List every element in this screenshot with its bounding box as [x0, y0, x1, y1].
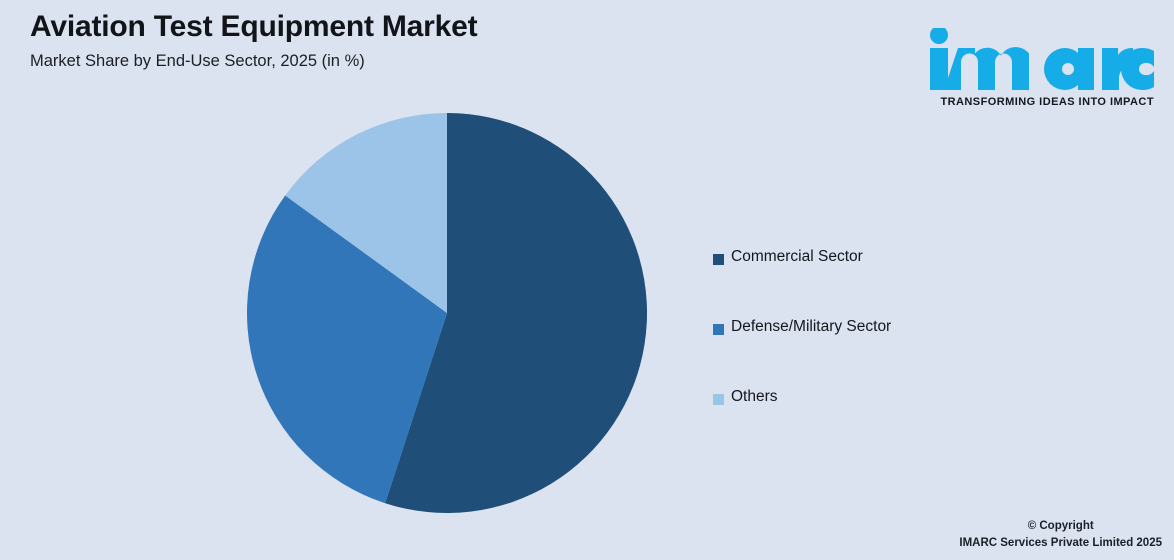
imarc-logo: TRANSFORMING IDEAS INTO IMPACT [924, 6, 1164, 108]
copyright-line-1: © Copyright [959, 518, 1162, 535]
imarc-wordmark-icon [922, 28, 1154, 90]
imarc-tagline: TRANSFORMING IDEAS INTO IMPACT [922, 96, 1154, 108]
page-subtitle: Market Share by End-Use Sector, 2025 (in… [30, 52, 365, 71]
legend-label: Others [731, 388, 778, 406]
legend-item-commercial-sector[interactable]: Commercial Sector [713, 252, 1033, 322]
copyright-block: © Copyright IMARC Services Private Limit… [959, 518, 1162, 553]
chart-container: Aviation Test Equipment Market Market Sh… [0, 0, 1174, 560]
page-title: Aviation Test Equipment Market [30, 10, 477, 44]
legend-swatch-icon [713, 394, 724, 405]
pie-chart [247, 113, 647, 513]
copyright-line-2: IMARC Services Private Limited 2025 [959, 535, 1162, 552]
pie-slice-group [247, 113, 647, 513]
chart-legend: Commercial Sector Defense/Military Secto… [713, 252, 1033, 462]
legend-label: Commercial Sector [731, 248, 863, 266]
legend-swatch-icon [713, 254, 724, 265]
legend-item-others[interactable]: Others [713, 392, 1033, 462]
legend-item-defense-military-sector[interactable]: Defense/Military Sector [713, 322, 1033, 392]
legend-swatch-icon [713, 324, 724, 335]
legend-label: Defense/Military Sector [731, 318, 891, 336]
